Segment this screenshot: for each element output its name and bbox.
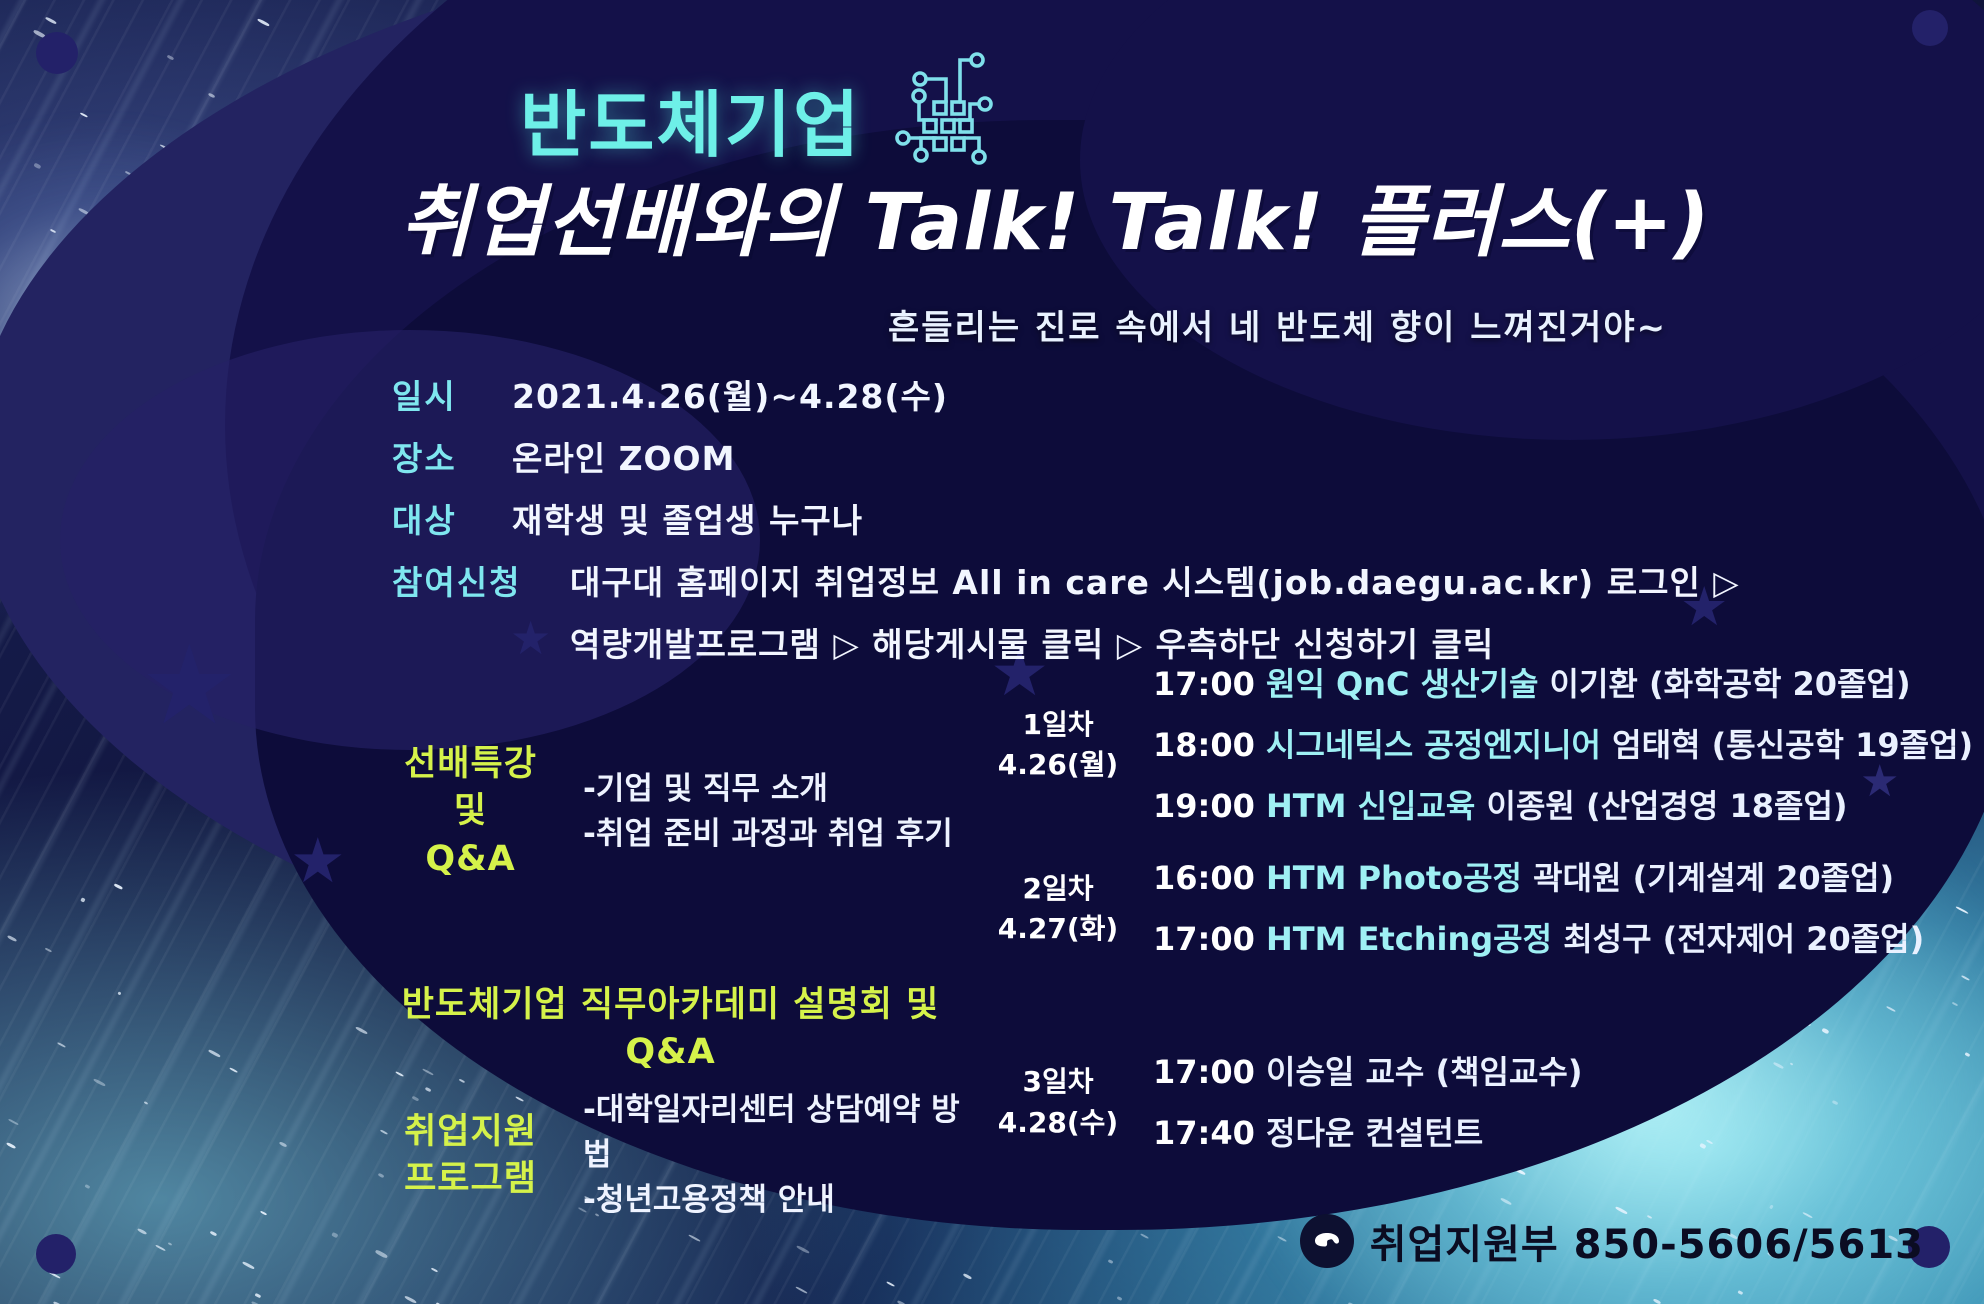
session-detail: (전자제어 20졸업) [1663, 920, 1925, 958]
day-date: 4.28(수) [983, 1103, 1133, 1144]
poster-kicker: 반도체기업 [520, 66, 861, 171]
session-time: 17:00 [1153, 1053, 1255, 1091]
session-name: 엄태혁 [1612, 726, 1700, 764]
info-value-apply: 대구대 홈페이지 취업정보 All in care 시스템(job.daegu.… [570, 556, 1740, 604]
info-row-audience: 대상 재학생 및 졸업생 누구나 [392, 494, 1792, 542]
session-org: 원익 QnC [1266, 665, 1410, 703]
day-date: 4.27(화) [983, 909, 1133, 950]
session-item: 17:00 원익 QnC 생산기술 이기환 (화학공학 20졸업) [1153, 654, 1768, 715]
info-value-audience: 재학생 및 졸업생 누구나 [512, 494, 863, 542]
session-time: 17:00 [1153, 665, 1255, 703]
category-line: 프로그램 [378, 1156, 563, 1203]
schedule-table: 선배특강 및 Q&A -기업 및 직무 소개 -취업 준비 과정과 취업 후기 … [368, 648, 1778, 1178]
day-label: 1일차 [983, 705, 1133, 746]
decorative-star-icon: ★ [140, 630, 239, 740]
footer-text: 취업지원부 850-5606/5613 [1370, 1212, 1924, 1270]
table-row: 반도체기업 직무아카데미 설명회 및 Q&A 3일차 4.28(수) 17:00… [368, 976, 1778, 1083]
info-label-audience: 대상 [392, 494, 512, 542]
cell-day-1: 1일차 4.26(월) [973, 648, 1143, 842]
session-time: 17:00 [1153, 920, 1255, 958]
day-label: 3일차 [983, 1062, 1133, 1103]
session-item: 19:00 HTM 신입교육 이종원 (산업경영 18졸업) [1153, 776, 1768, 837]
session-time: 19:00 [1153, 787, 1255, 825]
session-role: Etching공정 [1358, 920, 1552, 958]
info-label-place: 장소 [392, 432, 512, 480]
cell-day-3: 3일차 4.28(수) [973, 976, 1143, 1229]
session-name: 최성구 [1563, 920, 1651, 958]
footer-contact: 취업지원부 850-5606/5613 [1300, 1212, 1924, 1270]
session-role: Photo공정 [1358, 859, 1522, 897]
session-item: 17:40 정다운 컨설턴트 [1153, 1103, 1768, 1164]
corner-dot [1912, 10, 1948, 46]
session-name: 이승일 교수 [1266, 1053, 1424, 1091]
info-row-apply: 참여신청 대구대 홈페이지 취업정보 All in care 시스템(job.d… [392, 556, 1792, 604]
session-time: 16:00 [1153, 859, 1255, 897]
session-detail: (화학공학 20졸업) [1649, 665, 1911, 703]
session-item: 17:00 이승일 교수 (책임교수) [1153, 1042, 1768, 1103]
category-line: 선배특강 [378, 741, 563, 788]
session-org: HTM [1266, 920, 1346, 958]
info-block: 일시 2021.4.26(월)~4.28(수) 장소 온라인 ZOOM 대상 재… [392, 370, 1792, 666]
corner-dot [36, 32, 78, 74]
session-role: 공정엔지니어 [1424, 726, 1601, 764]
cell-academy-row: 반도체기업 직무아카데미 설명회 및 Q&A [368, 976, 973, 1083]
day-date: 4.26(월) [983, 745, 1133, 786]
table-row: 선배특강 및 Q&A -기업 및 직무 소개 -취업 준비 과정과 취업 후기 … [368, 648, 1778, 842]
session-role: 신입교육 [1358, 787, 1476, 825]
cell-sessions-day-1: 17:00 원익 QnC 생산기술 이기환 (화학공학 20졸업) 18:00 … [1143, 648, 1778, 842]
info-value-date: 2021.4.26(월)~4.28(수) [512, 370, 948, 418]
cell-description-main: -기업 및 직무 소개 -취업 준비 과정과 취업 후기 [573, 648, 973, 976]
session-item: 16:00 HTM Photo공정 곽대원 (기계설계 20졸업) [1153, 848, 1768, 909]
session-org: 시그네틱스 [1266, 726, 1413, 764]
description-line: -대학일자리센터 상담예약 방법 [583, 1088, 963, 1178]
phone-icon [1300, 1214, 1354, 1268]
poster-tagline: 흔들리는 진로 속에서 네 반도체 향이 느껴진거야~ [888, 300, 1667, 349]
info-value-place: 온라인 ZOOM [512, 432, 735, 480]
session-detail: (기계설계 20졸업) [1633, 859, 1895, 897]
decorative-star-icon: ★ [1860, 760, 1899, 804]
academy-label: 반도체기업 직무아카데미 설명회 및 Q&A [378, 982, 963, 1077]
session-name: 이종원 [1487, 787, 1575, 825]
cell-sessions-day-3: 17:00 이승일 교수 (책임교수) 17:40 정다운 컨설턴트 [1143, 976, 1778, 1229]
cell-category-main: 선배특강 및 Q&A [368, 648, 573, 976]
circuit-chip-icon [880, 42, 1000, 172]
session-time: 18:00 [1153, 726, 1255, 764]
session-org: HTM [1266, 787, 1346, 825]
session-detail: (책임교수) [1435, 1053, 1582, 1091]
session-name: 곽대원 [1533, 859, 1621, 897]
session-name: 이기환 [1550, 665, 1638, 703]
info-row-date: 일시 2021.4.26(월)~4.28(수) [392, 370, 1792, 418]
decorative-star-icon: ★ [290, 830, 346, 892]
category-line: Q&A [378, 836, 563, 883]
category-line: 취업지원 [378, 1109, 563, 1156]
session-item: 18:00 시그네틱스 공정엔지니어 엄태혁 (통신공학 19졸업) [1153, 715, 1768, 776]
session-detail: (통신공학 19졸업) [1712, 726, 1974, 764]
session-detail: (산업경영 18졸업) [1586, 787, 1848, 825]
description-line: -취업 준비 과정과 취업 후기 [583, 812, 963, 857]
corner-dot [36, 1234, 76, 1274]
cell-support-category: 취업지원 프로그램 [368, 1082, 573, 1229]
session-time: 17:40 [1153, 1114, 1255, 1152]
cell-day-2: 2일차 4.27(화) [973, 842, 1143, 976]
session-name: 정다운 컨설턴트 [1266, 1114, 1483, 1152]
session-role: 생산기술 [1421, 665, 1539, 703]
poster-headline: 취업선배와의 Talk! Talk! 플러스(+) [400, 160, 1711, 272]
poster-canvas: ★ ★ ★ ★ ★ ★ 반도체기업 [0, 0, 1984, 1304]
category-line: 및 [378, 788, 563, 835]
info-label-apply: 참여신청 [392, 556, 570, 604]
session-org: HTM [1266, 859, 1346, 897]
cell-sessions-day-2: 16:00 HTM Photo공정 곽대원 (기계설계 20졸업) 17:00 … [1143, 842, 1778, 976]
description-line: -청년고용정책 안내 [583, 1178, 963, 1223]
cell-support-description: -대학일자리센터 상담예약 방법 -청년고용정책 안내 [573, 1082, 973, 1229]
info-row-place: 장소 온라인 ZOOM [392, 432, 1792, 480]
description-line: -기업 및 직무 소개 [583, 767, 963, 812]
day-label: 2일차 [983, 869, 1133, 910]
session-item: 17:00 HTM Etching공정 최성구 (전자제어 20졸업) [1153, 909, 1768, 970]
info-label-date: 일시 [392, 370, 512, 418]
